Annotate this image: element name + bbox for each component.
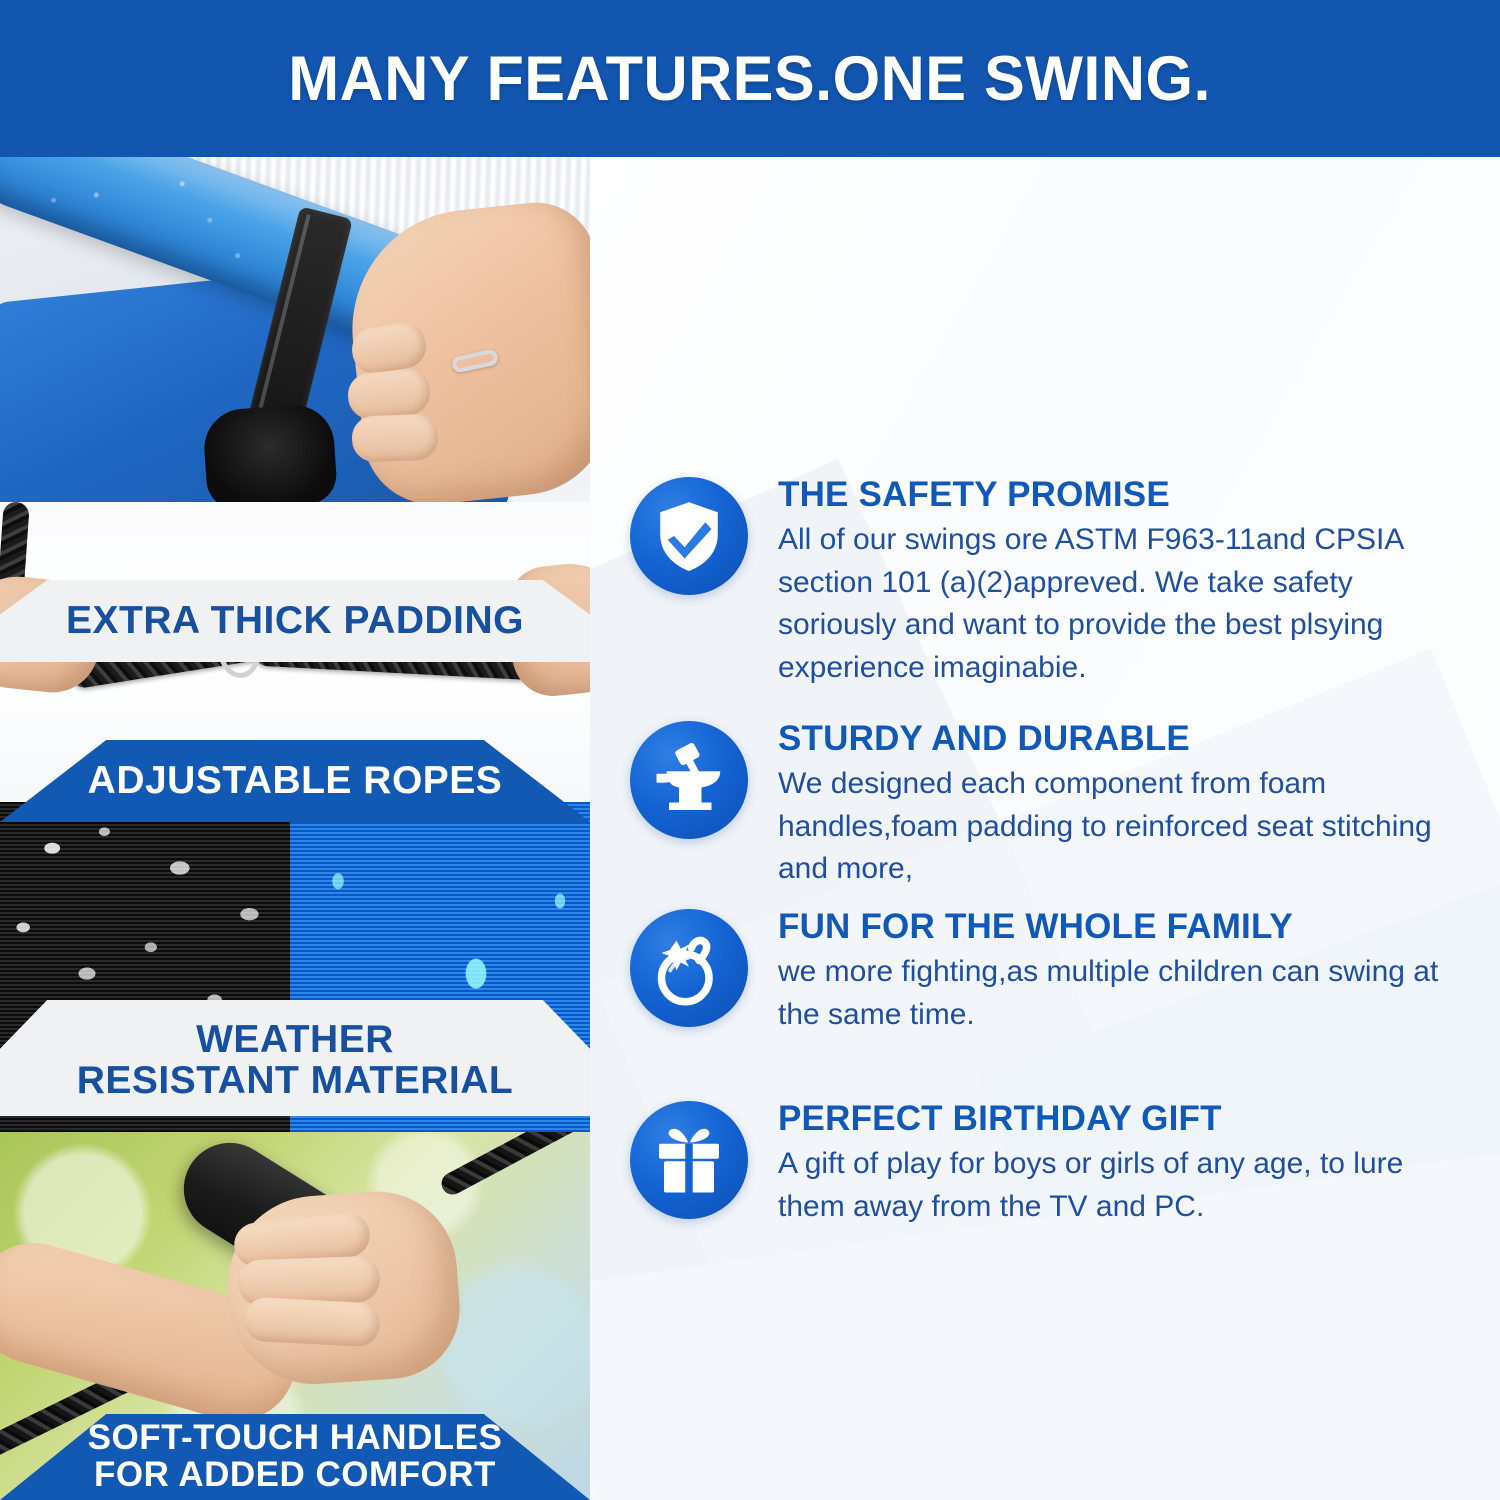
caption-line: FOR ADDED COMFORT [94, 1457, 496, 1494]
gift-box-icon [630, 1101, 748, 1219]
feature-title: FUN FOR THE WHOLE FAMILY [778, 907, 1476, 947]
caption-line: ADJUSTABLE ROPES [88, 761, 503, 802]
photo4-rope-upper [438, 1132, 590, 1198]
photo1-rope-knot [202, 403, 339, 502]
caption-extra-thick-padding: EXTRA THICK PADDING [0, 580, 590, 662]
photo4-finger [243, 1296, 381, 1347]
page-title: MANY FEATURES.ONE SWING. [289, 43, 1212, 115]
feature-item-sturdy-durable: STURDY AND DURABLE We designed each comp… [590, 717, 1500, 891]
feature-item-fun-whole-family: FUN FOR THE WHOLE FAMILY we more fightin… [590, 905, 1500, 1036]
feature-list: THE SAFETY PROMISE All of our swings ore… [590, 157, 1500, 1500]
anvil-hammer-icon [630, 721, 748, 839]
photo-extra-thick-padding [0, 157, 590, 502]
caption-line: WEATHER [196, 1020, 394, 1061]
feature-title: STURDY AND DURABLE [778, 719, 1476, 759]
feature-body: A gift of play for boys or girls of any … [778, 1143, 1476, 1228]
feature-item-birthday-gift: PERFECT BIRTHDAY GIFT A gift of play for… [590, 1097, 1500, 1228]
right-feature-panel: THE SAFETY PROMISE All of our swings ore… [590, 157, 1500, 1500]
feature-title: PERFECT BIRTHDAY GIFT [778, 1099, 1476, 1139]
feature-title: THE SAFETY PROMISE [778, 475, 1476, 515]
header-banner: MANY FEATURES.ONE SWING. [0, 0, 1500, 157]
feature-text-block: FUN FOR THE WHOLE FAMILY we more fightin… [748, 905, 1500, 1036]
bomb-icon [630, 909, 748, 1027]
feature-body: All of our swings ore ASTM F963-11and CP… [778, 519, 1476, 689]
caption-weather-resistant-material: WEATHER RESISTANT MATERIAL [0, 1000, 590, 1116]
shield-check-icon [630, 477, 748, 595]
photo1-finger [351, 414, 439, 463]
feature-body: we more fighting,as multiple children ca… [778, 951, 1476, 1036]
left-photo-column [0, 157, 590, 1500]
infographic-page: MANY FEATURES.ONE SWING. [0, 0, 1500, 1500]
feature-text-block: PERFECT BIRTHDAY GIFT A gift of play for… [748, 1097, 1500, 1228]
caption-line: EXTRA THICK PADDING [66, 601, 524, 642]
feature-text-block: STURDY AND DURABLE We designed each comp… [748, 717, 1500, 891]
feature-body: We designed each component from foam han… [778, 763, 1476, 891]
caption-line: RESISTANT MATERIAL [77, 1061, 514, 1102]
feature-item-safety-promise: THE SAFETY PROMISE All of our swings ore… [590, 473, 1500, 689]
feature-text-block: THE SAFETY PROMISE All of our swings ore… [748, 473, 1500, 689]
caption-line: SOFT-TOUCH HANDLES [88, 1420, 503, 1457]
